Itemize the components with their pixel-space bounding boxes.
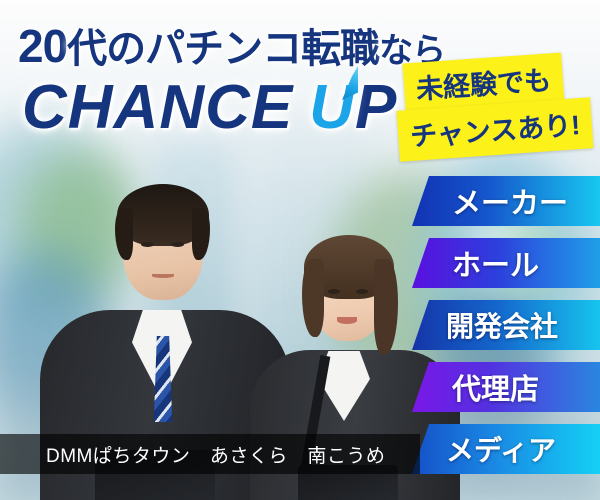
logo-letter-u-text: U (309, 73, 355, 142)
category-button-hall-label: ホール (452, 242, 539, 284)
caption-text: DMMぱちタウン あさくら 南こうめ (46, 441, 385, 468)
badge-chance-available-label: チャンスあり! (409, 110, 581, 152)
category-button-maker-label: メーカー (452, 180, 568, 222)
businessman-eye-right (171, 242, 184, 247)
badge-no-experience-label: 未経験でも (415, 65, 552, 104)
category-button-agency-label: 代理店 (452, 366, 539, 408)
category-button-agency[interactable]: 代理店 (412, 362, 600, 412)
headline-number: 20 (18, 20, 67, 72)
category-button-developer[interactable]: 開発会社 (412, 300, 600, 350)
category-button-media[interactable]: メディア (412, 424, 600, 474)
category-button-maker[interactable]: メーカー (412, 176, 600, 226)
businesswoman-eye-left (328, 289, 340, 294)
page-title: 20代のパチンコ転職なら (18, 16, 445, 74)
category-button-hall[interactable]: ホール (412, 238, 600, 288)
businesswoman-mouth (337, 317, 357, 324)
headline-main: 代のパチンコ転職 (67, 27, 379, 71)
advertisement-banner: 20代のパチンコ転職なら CHANCEUP 未経験でも チャンスあり! メーカー… (0, 0, 600, 500)
chance-up-logo: CHANCEUP (22, 72, 397, 143)
businesswoman-eye-right (356, 289, 368, 294)
businessman-eye-left (141, 242, 154, 247)
businessman-mouth (152, 274, 174, 278)
businesswoman-hair-left (302, 259, 324, 337)
businessman-hair-side (115, 208, 133, 260)
businessman-hair-side-right (192, 208, 210, 260)
logo-letter-p: P (355, 73, 397, 142)
logo-letter-u: U (309, 72, 355, 143)
category-button-developer-label: 開発会社 (446, 305, 558, 345)
category-button-media-label: メディア (446, 429, 556, 469)
caption-bar: DMMぱちタウン あさくら 南こうめ (0, 434, 420, 474)
businesswoman-hair-right (374, 259, 398, 355)
logo-word-chance: CHANCE (22, 73, 293, 142)
